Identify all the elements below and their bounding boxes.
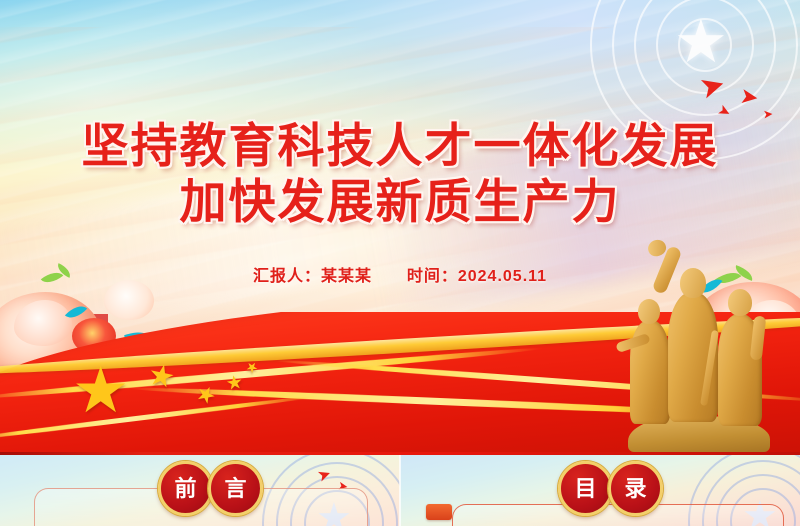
ripple-star-icon: ★: [674, 12, 728, 72]
date-label: 时间：2024.05.11: [407, 268, 547, 285]
preface-badge-char-2[interactable]: 言: [208, 461, 263, 516]
contents-badge-group[interactable]: 目 录: [558, 461, 663, 516]
presenter-label: 汇报人：某某某: [253, 268, 372, 285]
flag-star-small-3: ★: [225, 373, 245, 394]
contents-badge-char-1[interactable]: 目: [558, 461, 613, 516]
bottom-panels: ★ ➤ ➤ ★: [0, 452, 800, 526]
slide-canvas: ★ ➤ ➤ ➤ ➤: [0, 0, 800, 526]
preface-badge-group[interactable]: 前 言: [158, 461, 263, 516]
subtitle-meta: 汇报人：某某某 时间：2024.05.11: [0, 262, 800, 286]
title-line-2: 加快发展新质生产力: [0, 174, 800, 230]
statue-head-left: [638, 299, 660, 324]
title-line-1: 坚持教育科技人才一体化发展: [0, 118, 800, 174]
preface-badge-char-1[interactable]: 前: [158, 461, 213, 516]
panel-divider: [399, 452, 401, 526]
red-divider-line: [0, 452, 800, 455]
dove-icon-2: ➤: [739, 85, 760, 109]
contents-tab-marker: [426, 504, 452, 520]
statue-head-right: [728, 289, 752, 316]
contents-badge-char-2[interactable]: 录: [608, 461, 663, 516]
flag-star-large: ★: [72, 358, 129, 422]
title-block: 坚持教育科技人才一体化发展 加快发展新质生产力: [0, 118, 800, 230]
